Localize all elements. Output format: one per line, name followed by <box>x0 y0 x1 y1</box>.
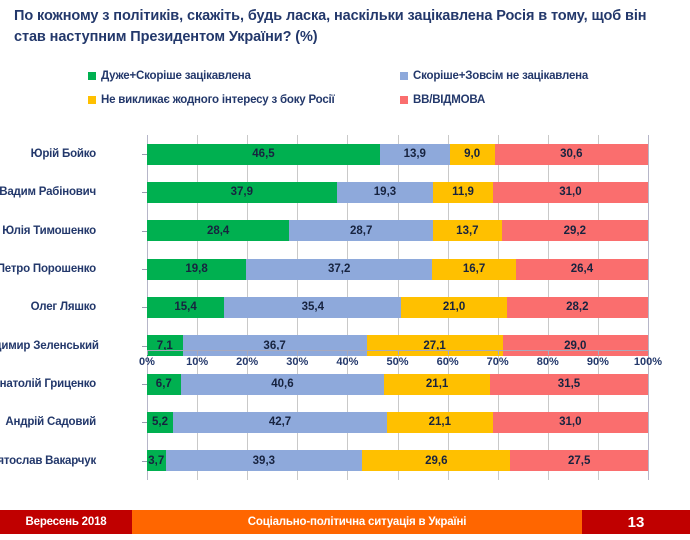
x-axis-tick <box>598 350 599 355</box>
legend-item[interactable]: Не викликає жодного інтересу з боку Росі… <box>88 94 335 106</box>
legend-item-label: Скоріше+Зовсім не зацікавлена <box>413 70 588 82</box>
x-axis-label: 90% <box>587 356 609 368</box>
legend-item[interactable]: Дуже+Скоріше зацікавлена <box>88 70 251 82</box>
bar-segment-value: 3,7 <box>148 455 164 467</box>
bar-segment[interactable]: 19,8 <box>147 259 246 280</box>
bar-segment-value: 21,0 <box>443 301 465 313</box>
x-axis-label: 60% <box>437 356 459 368</box>
stacked-bar: 37,919,311,931,0 <box>147 182 648 203</box>
x-axis-tick <box>548 350 549 355</box>
bar-segment[interactable]: 16,7 <box>432 259 516 280</box>
bar-segment[interactable]: 27,5 <box>510 450 648 471</box>
bar-segment-value: 15,4 <box>174 301 196 313</box>
x-axis-tick <box>197 350 198 355</box>
stacked-bar: 19,837,216,726,4 <box>147 259 648 280</box>
bar-segment-value: 39,3 <box>253 455 275 467</box>
bar-segment[interactable]: 6,7 <box>147 374 181 395</box>
stacked-bar: 15,435,421,028,2 <box>147 297 648 318</box>
bar-segment-value: 31,5 <box>558 378 580 390</box>
category-label: Вадим Рабінович <box>0 186 96 198</box>
bar-segment[interactable]: 21,1 <box>387 412 493 433</box>
legend-item-label: ВВ/ВІДМОВА <box>413 94 485 106</box>
bar-segment-value: 16,7 <box>463 263 485 275</box>
bar-segment-value: 46,5 <box>252 148 274 160</box>
bar-segment[interactable]: 31,5 <box>490 374 648 395</box>
bar-segment-value: 29,2 <box>564 225 586 237</box>
x-axis-tick <box>297 350 298 355</box>
gridline <box>648 135 649 480</box>
x-axis-label: 30% <box>286 356 308 368</box>
bar-segment-value: 27,5 <box>568 455 590 467</box>
category-label: Володимир Зеленський <box>0 340 96 352</box>
chart-plot: Юрій Бойко46,513,99,030,6Вадим Рабінович… <box>0 130 690 502</box>
bar-segment[interactable]: 30,6 <box>495 144 648 165</box>
x-axis-label: 40% <box>336 356 358 368</box>
page-title: По кожному з політиків, скажіть, будь ла… <box>14 6 674 48</box>
stacked-bar: 3,739,329,627,5 <box>147 450 648 471</box>
category-label: Святослав Вакарчук <box>0 455 96 467</box>
x-axis-label: 70% <box>487 356 509 368</box>
bar-segment[interactable]: 26,4 <box>516 259 648 280</box>
legend-square-yellow <box>88 96 96 104</box>
stacked-bar: 46,513,99,030,6 <box>147 144 648 165</box>
bar-segment[interactable]: 21,1 <box>384 374 490 395</box>
bar-segment-value: 9,0 <box>464 148 480 160</box>
category-label: Андрій Садовий <box>0 416 96 428</box>
bar-segment[interactable]: 13,9 <box>380 144 450 165</box>
bar-segment-value: 31,0 <box>559 186 581 198</box>
bar-segment[interactable]: 28,2 <box>507 297 648 318</box>
bar-segment-value: 28,2 <box>566 301 588 313</box>
bar-segment-value: 13,9 <box>404 148 426 160</box>
bar-segment[interactable]: 40,6 <box>181 374 385 395</box>
bar-row[interactable]: Петро Порошенко19,837,216,726,4 <box>147 250 648 288</box>
footer-bar: Вересень 2018 Соціально-політична ситуац… <box>0 510 690 534</box>
bar-segment[interactable]: 3,7 <box>147 450 166 471</box>
x-axis-label: 10% <box>186 356 208 368</box>
bar-segment-value: 11,9 <box>452 186 474 198</box>
x-axis-tick <box>347 350 348 355</box>
bar-segment-value: 21,1 <box>429 416 451 428</box>
x-axis-label: 100% <box>634 356 662 368</box>
bar-row[interactable]: Святослав Вакарчук3,739,329,627,5 <box>147 442 648 480</box>
bar-segment-value: 19,3 <box>374 186 396 198</box>
category-label: Олег Ляшко <box>0 301 96 313</box>
x-axis-tick <box>648 350 649 355</box>
bar-segment[interactable]: 28,7 <box>289 220 433 241</box>
category-label: Петро Порошенко <box>0 263 96 275</box>
legend-item-label: Дуже+Скоріше зацікавлена <box>101 70 251 82</box>
bar-segment-value: 26,4 <box>571 263 593 275</box>
bar-row[interactable]: Олег Ляшко15,435,421,028,2 <box>147 288 648 326</box>
bar-row[interactable]: Вадим Рабінович37,919,311,931,0 <box>147 173 648 211</box>
chart-legend: Дуже+Скоріше зацікавленаСкоріше+Зовсім н… <box>88 70 668 114</box>
bar-segment-value: 31,0 <box>559 416 581 428</box>
x-axis-label: 80% <box>537 356 559 368</box>
stacked-bar: 5,242,721,131,0 <box>147 412 648 433</box>
bar-segment[interactable]: 31,0 <box>493 182 648 203</box>
legend-square-blue <box>400 72 408 80</box>
footer-title: Соціально-політична ситуація в Україні <box>132 510 582 534</box>
x-axis-label: 50% <box>386 356 408 368</box>
bar-segment-value: 19,8 <box>185 263 207 275</box>
footer-page-number: 13 <box>582 510 690 534</box>
legend-square-green <box>88 72 96 80</box>
bar-segment-value: 28,4 <box>207 225 229 237</box>
x-axis-tick <box>398 350 399 355</box>
bar-segment[interactable]: 46,5 <box>147 144 380 165</box>
legend-square-red <box>400 96 408 104</box>
category-label: Юрій Бойко <box>0 148 96 160</box>
bar-segment-value: 37,9 <box>231 186 253 198</box>
bar-segment-value: 29,6 <box>425 455 447 467</box>
bar-segment[interactable]: 28,4 <box>147 220 289 241</box>
bar-segment-value: 30,6 <box>560 148 582 160</box>
bar-segment[interactable]: 42,7 <box>173 412 387 433</box>
bar-segment-value: 5,2 <box>152 416 168 428</box>
bar-segment-value: 42,7 <box>269 416 291 428</box>
x-axis-tick <box>498 350 499 355</box>
category-label: Юлія Тимошенко <box>0 225 96 237</box>
bar-segment-value: 37,2 <box>328 263 350 275</box>
bar-segment[interactable]: 5,2 <box>147 412 173 433</box>
plot-area: Юрій Бойко46,513,99,030,6Вадим Рабінович… <box>147 135 648 480</box>
bar-segment[interactable]: 29,2 <box>502 220 648 241</box>
bar-row[interactable]: Андрій Садовий5,242,721,131,0 <box>147 403 648 441</box>
bar-segment[interactable]: 29,6 <box>362 450 510 471</box>
bar-segment[interactable]: 37,9 <box>147 182 337 203</box>
bar-segment-value: 6,7 <box>156 378 172 390</box>
bar-segment[interactable]: 13,7 <box>433 220 502 241</box>
bar-segment-value: 40,6 <box>271 378 293 390</box>
bar-segment[interactable]: 39,3 <box>166 450 363 471</box>
category-label: Анатолій Гриценко <box>0 378 96 390</box>
bar-segment-value: 35,4 <box>302 301 324 313</box>
legend-item-label: Не викликає жодного інтересу з боку Росі… <box>101 94 335 106</box>
footer-date: Вересень 2018 <box>0 510 132 534</box>
bar-segment-value: 13,7 <box>456 225 478 237</box>
bar-segment[interactable]: 35,4 <box>224 297 401 318</box>
x-axis-tick <box>147 350 148 355</box>
stacked-bar: 28,428,713,729,2 <box>147 220 648 241</box>
bar-segment[interactable]: 37,2 <box>246 259 432 280</box>
bar-segment[interactable]: 19,3 <box>337 182 434 203</box>
x-axis: 0%10%20%30%40%50%60%70%80%90%100% <box>147 350 648 374</box>
bar-segment[interactable]: 21,0 <box>401 297 506 318</box>
x-axis-tick <box>247 350 248 355</box>
stacked-bar: 6,740,621,131,5 <box>147 374 648 395</box>
bar-segment[interactable]: 11,9 <box>433 182 493 203</box>
bar-segment-value: 21,1 <box>426 378 448 390</box>
legend-item[interactable]: ВВ/ВІДМОВА <box>400 94 485 106</box>
x-axis-label: 20% <box>236 356 258 368</box>
bar-row[interactable]: Юлія Тимошенко28,428,713,729,2 <box>147 212 648 250</box>
bar-rows: Юрій Бойко46,513,99,030,6Вадим Рабінович… <box>147 135 648 480</box>
bar-row[interactable]: Юрій Бойко46,513,99,030,6 <box>147 135 648 173</box>
bar-segment[interactable]: 15,4 <box>147 297 224 318</box>
bar-segment-value: 28,7 <box>350 225 372 237</box>
bar-segment[interactable]: 31,0 <box>493 412 648 433</box>
x-axis-label: 0% <box>139 356 155 368</box>
bar-segment[interactable]: 9,0 <box>450 144 495 165</box>
legend-item[interactable]: Скоріше+Зовсім не зацікавлена <box>400 70 588 82</box>
x-axis-tick <box>448 350 449 355</box>
